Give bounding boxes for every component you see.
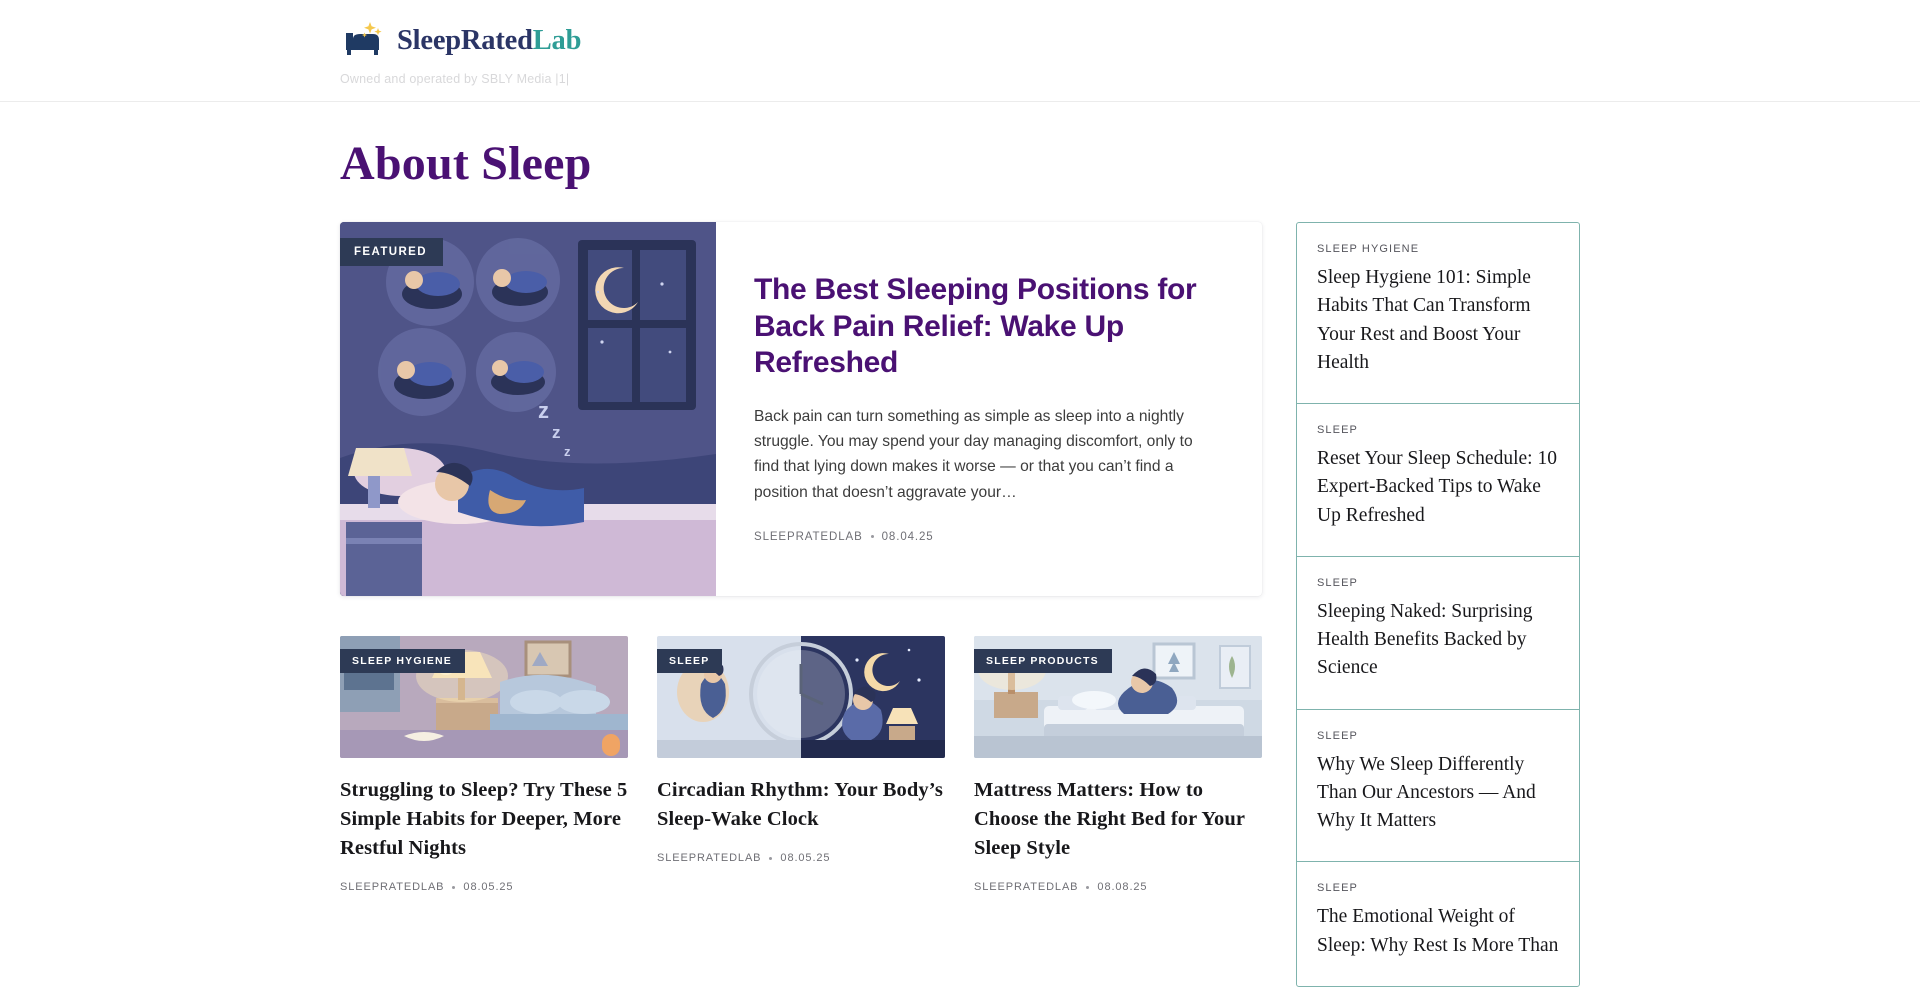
- content-grid: FEATURED: [340, 222, 1580, 987]
- card-date: 08.05.25: [463, 881, 513, 893]
- featured-date: 08.04.25: [882, 531, 934, 543]
- card-meta: SLEEPRATEDLAB 08.08.25: [974, 881, 1262, 893]
- sidebar-item-category: SLEEP: [1317, 424, 1559, 436]
- card-date: 08.08.25: [1097, 881, 1147, 893]
- card-image: SLEEP: [657, 636, 945, 758]
- sidebar-item-category: SLEEP: [1317, 730, 1559, 742]
- featured-excerpt: Back pain can turn something as simple a…: [754, 404, 1218, 505]
- meta-separator-dot: [769, 857, 772, 860]
- card-date: 08.05.25: [780, 852, 830, 864]
- card-image: SLEEP HYGIENE: [340, 636, 628, 758]
- svg-text:z: z: [552, 423, 561, 442]
- article-card-grid: SLEEP HYGIENE: [340, 636, 1262, 893]
- sidebar: SLEEP HYGIENE Sleep Hygiene 101: Simple …: [1296, 222, 1580, 987]
- card-title[interactable]: Mattress Matters: How to Choose the Righ…: [974, 776, 1262, 863]
- card-title[interactable]: Struggling to Sleep? Try These 5 Simple …: [340, 776, 628, 863]
- sidebar-item[interactable]: SLEEP Reset Your Sleep Schedule: 10 Expe…: [1297, 404, 1579, 557]
- bed-sparkle-icon: [340, 20, 388, 62]
- sidebar-item[interactable]: SLEEP The Emotional Weight of Sleep: Why…: [1297, 862, 1579, 986]
- site-header: SleepRatedLab Owned and operated by SBLY…: [0, 0, 1920, 102]
- article-card[interactable]: SLEEP HYGIENE: [340, 636, 628, 893]
- card-badge: SLEEP HYGIENE: [340, 649, 465, 673]
- card-author: SLEEPRATEDLAB: [340, 881, 444, 893]
- meta-separator-dot: [1086, 886, 1089, 889]
- main-column: FEATURED: [340, 222, 1262, 893]
- card-title[interactable]: Circadian Rhythm: Your Body’s Sleep-Wake…: [657, 776, 945, 834]
- logo-wordmark-teal: Lab: [533, 25, 582, 56]
- featured-image: FEATURED: [340, 222, 716, 596]
- sidebar-item-title[interactable]: Why We Sleep Differently Than Our Ancest…: [1317, 751, 1559, 836]
- svg-text:z: z: [538, 398, 549, 423]
- logo-wordmark: SleepRatedLab: [397, 27, 581, 56]
- featured-article-card[interactable]: FEATURED: [340, 222, 1262, 596]
- sidebar-item-title[interactable]: Reset Your Sleep Schedule: 10 Expert-Bac…: [1317, 445, 1559, 530]
- sidebar-article-list: SLEEP HYGIENE Sleep Hygiene 101: Simple …: [1296, 222, 1580, 987]
- article-card[interactable]: SLEEP: [657, 636, 945, 893]
- brand-tagline: Owned and operated by SBLY Media |1|: [340, 72, 581, 86]
- card-author: SLEEPRATEDLAB: [657, 852, 761, 864]
- meta-separator-dot: [871, 535, 874, 538]
- sidebar-item-title[interactable]: Sleeping Naked: Surprising Health Benefi…: [1317, 598, 1559, 683]
- card-meta: SLEEPRATEDLAB 08.05.25: [340, 881, 628, 893]
- card-author: SLEEPRATEDLAB: [974, 881, 1078, 893]
- featured-meta: SLEEPRATEDLAB 08.04.25: [754, 531, 1218, 543]
- svg-text:z: z: [564, 444, 571, 459]
- brand-block[interactable]: SleepRatedLab Owned and operated by SBLY…: [340, 20, 581, 86]
- sidebar-item-category: SLEEP: [1317, 882, 1559, 894]
- sidebar-item[interactable]: SLEEP Why We Sleep Differently Than Our …: [1297, 710, 1579, 863]
- card-badge: SLEEP: [657, 649, 722, 673]
- card-meta: SLEEPRATEDLAB 08.05.25: [657, 852, 945, 864]
- sidebar-item-title[interactable]: Sleep Hygiene 101: Simple Habits That Ca…: [1317, 264, 1559, 377]
- article-card[interactable]: SLEEP PRODUCTS: [974, 636, 1262, 893]
- sidebar-item[interactable]: SLEEP HYGIENE Sleep Hygiene 101: Simple …: [1297, 223, 1579, 404]
- sidebar-item[interactable]: SLEEP Sleeping Naked: Surprising Health …: [1297, 557, 1579, 710]
- featured-badge: FEATURED: [340, 238, 443, 266]
- card-badge: SLEEP PRODUCTS: [974, 649, 1112, 673]
- featured-title[interactable]: The Best Sleeping Positions for Back Pai…: [754, 272, 1218, 382]
- sidebar-item-title[interactable]: The Emotional Weight of Sleep: Why Rest …: [1317, 903, 1559, 960]
- sidebar-item-category: SLEEP: [1317, 577, 1559, 589]
- meta-separator-dot: [452, 886, 455, 889]
- featured-author: SLEEPRATEDLAB: [754, 531, 863, 543]
- sidebar-item-category: SLEEP HYGIENE: [1317, 243, 1559, 255]
- site-logo[interactable]: SleepRatedLab: [340, 20, 581, 62]
- card-image: SLEEP PRODUCTS: [974, 636, 1262, 758]
- page-title: About Sleep: [340, 138, 592, 191]
- logo-wordmark-dark: SleepRated: [397, 25, 533, 56]
- featured-body: The Best Sleeping Positions for Back Pai…: [716, 222, 1262, 596]
